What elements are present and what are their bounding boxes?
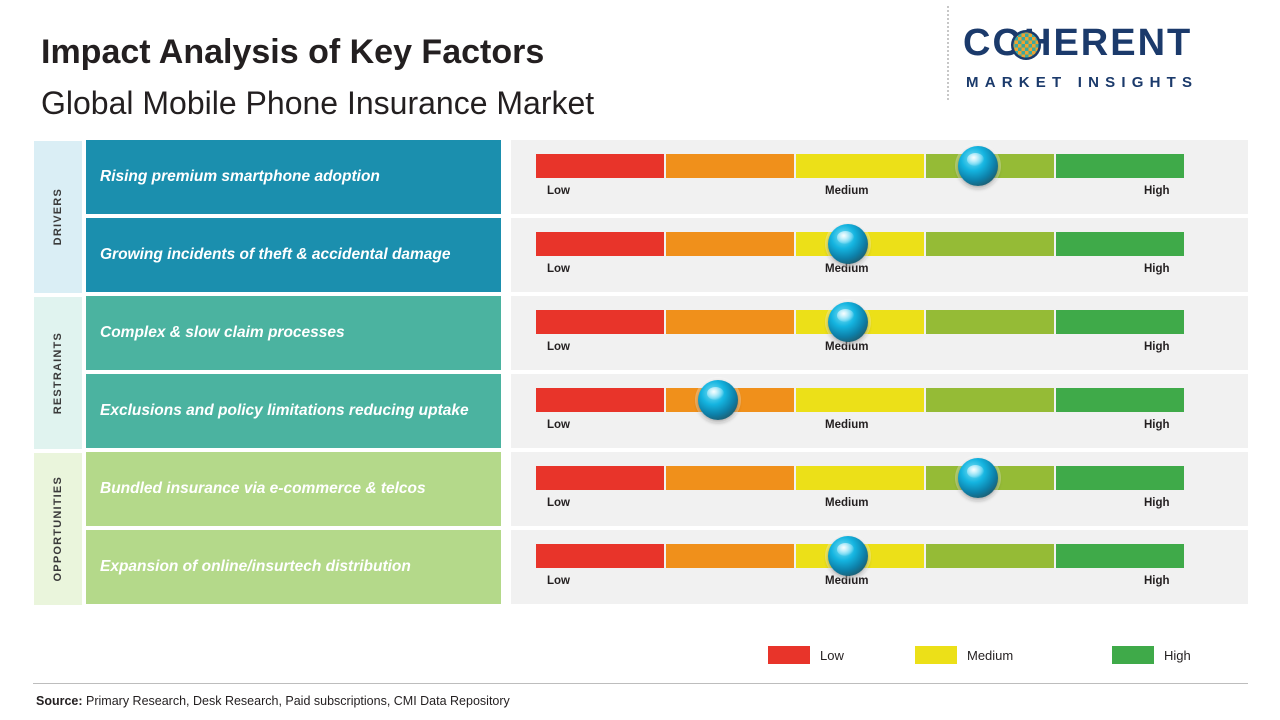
page-subtitle: Global Mobile Phone Insurance Market — [41, 85, 594, 122]
legend-label: Low — [820, 648, 844, 663]
scale-segment-1 — [536, 232, 664, 256]
factor-label: Bundled insurance via e-commerce & telco… — [100, 477, 426, 501]
impact-marker[interactable] — [828, 536, 868, 576]
scale-segment-2 — [666, 310, 794, 334]
scale-tick-low: Low — [547, 575, 570, 587]
scale-segment-5 — [1056, 310, 1184, 334]
header-divider — [947, 6, 949, 100]
scale-segment-1 — [536, 544, 664, 568]
scale-tick-medium: Medium — [825, 341, 868, 353]
scale-tick-medium: Medium — [825, 497, 868, 509]
scale-tick-high: High — [1144, 185, 1170, 197]
source-label: Source: — [36, 694, 83, 708]
scale-tick-high: High — [1144, 575, 1170, 587]
scale-segment-5 — [1056, 232, 1184, 256]
factor-label-box: Rising premium smartphone adoption — [86, 140, 501, 214]
scale-segment-5 — [1056, 388, 1184, 412]
category-band-opportunities: OPPORTUNITIES — [33, 452, 83, 606]
logo-wordmark: COHERENT — [963, 22, 1192, 65]
factor-label: Exclusions and policy limitations reduci… — [100, 399, 469, 423]
scale-segment-5 — [1056, 544, 1184, 568]
factor-label: Complex & slow claim processes — [100, 321, 345, 345]
scale-tick-high: High — [1144, 341, 1170, 353]
source-note: Source: Primary Research, Desk Research,… — [36, 694, 510, 708]
scale-segment-2 — [666, 154, 794, 178]
scale-segment-1 — [536, 388, 664, 412]
scale-segment-2 — [666, 232, 794, 256]
impact-scale-bar — [536, 388, 1186, 412]
category-band-restraints: RESTRAINTS — [33, 296, 83, 450]
factor-label-box: Expansion of online/insurtech distributi… — [86, 530, 501, 604]
footer-divider — [33, 683, 1248, 684]
scale-tick-low: Low — [547, 419, 570, 431]
impact-marker[interactable] — [958, 146, 998, 186]
scale-segment-4 — [926, 232, 1054, 256]
scale-tick-medium: Medium — [825, 575, 868, 587]
scale-segment-4 — [926, 388, 1054, 412]
legend-item-medium: Medium — [915, 646, 1013, 664]
factor-label-box: Bundled insurance via e-commerce & telco… — [86, 452, 501, 526]
legend-swatch — [768, 646, 810, 664]
legend-label: High — [1164, 648, 1191, 663]
scale-segment-5 — [1056, 154, 1184, 178]
scale-segment-4 — [926, 310, 1054, 334]
scale-segment-4 — [926, 544, 1054, 568]
legend-swatch — [915, 646, 957, 664]
factor-label-box: Growing incidents of theft & accidental … — [86, 218, 501, 292]
header: Impact Analysis of Key Factors Global Mo… — [0, 0, 1280, 134]
chart-legend: LowMediumHigh — [0, 640, 1280, 674]
source-text: Primary Research, Desk Research, Paid su… — [83, 694, 510, 708]
scale-tick-high: High — [1144, 263, 1170, 275]
logo: COHERENT MARKET INSIGHTS — [963, 22, 1263, 104]
scale-segment-2 — [666, 466, 794, 490]
scale-tick-high: High — [1144, 497, 1170, 509]
scale-tick-low: Low — [547, 341, 570, 353]
scale-segment-5 — [1056, 466, 1184, 490]
scale-segment-1 — [536, 310, 664, 334]
category-band-drivers: DRIVERS — [33, 140, 83, 294]
legend-swatch — [1112, 646, 1154, 664]
scale-segment-2 — [666, 544, 794, 568]
scale-tick-medium: Medium — [825, 263, 868, 275]
scale-segment-3 — [796, 154, 924, 178]
scale-tick-low: Low — [547, 263, 570, 275]
impact-marker[interactable] — [828, 302, 868, 342]
factor-label: Growing incidents of theft & accidental … — [100, 243, 451, 267]
scale-tick-medium: Medium — [825, 419, 868, 431]
scale-tick-low: Low — [547, 185, 570, 197]
impact-scale-bar — [536, 466, 1186, 490]
impact-analysis-chart: DRIVERSRising premium smartphone adoptio… — [0, 140, 1280, 615]
logo-globe-icon — [1011, 30, 1041, 60]
impact-marker[interactable] — [828, 224, 868, 264]
impact-scale-bar — [536, 154, 1186, 178]
logo-tagline: MARKET INSIGHTS — [966, 74, 1198, 91]
factor-label: Expansion of online/insurtech distributi… — [100, 555, 411, 579]
scale-segment-1 — [536, 466, 664, 490]
factor-label: Rising premium smartphone adoption — [100, 165, 380, 189]
scale-segment-3 — [796, 388, 924, 412]
impact-marker[interactable] — [958, 458, 998, 498]
scale-tick-medium: Medium — [825, 185, 868, 197]
scale-segment-1 — [536, 154, 664, 178]
page-title: Impact Analysis of Key Factors — [41, 33, 544, 72]
scale-tick-low: Low — [547, 497, 570, 509]
legend-item-high: High — [1112, 646, 1191, 664]
factor-label-box: Complex & slow claim processes — [86, 296, 501, 370]
category-label: OPPORTUNITIES — [52, 476, 64, 581]
category-label: RESTRAINTS — [52, 332, 64, 414]
legend-item-low: Low — [768, 646, 844, 664]
scale-tick-high: High — [1144, 419, 1170, 431]
scale-segment-3 — [796, 466, 924, 490]
factor-label-box: Exclusions and policy limitations reduci… — [86, 374, 501, 448]
category-label: DRIVERS — [52, 188, 64, 245]
impact-marker[interactable] — [698, 380, 738, 420]
legend-label: Medium — [967, 648, 1013, 663]
